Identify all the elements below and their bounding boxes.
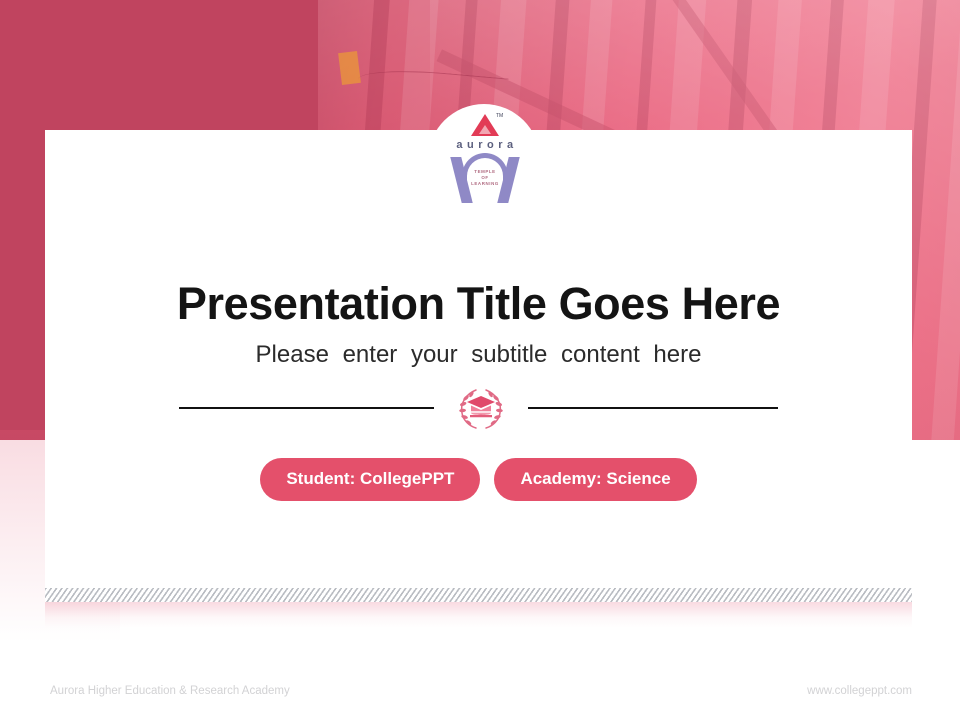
logo-triangle-group: TM	[440, 112, 530, 138]
footer-organization: Aurora Higher Education & Research Acade…	[50, 685, 290, 697]
triangle-inner-icon	[479, 125, 491, 134]
divider	[45, 384, 912, 432]
page-title[interactable]: Presentation Title Goes Here	[45, 276, 912, 332]
hatch-shadow	[45, 602, 912, 628]
arch-icon: TEMPLE OF LEARNING	[440, 153, 530, 203]
page-subtitle[interactable]: Please enter your subtitle content here	[45, 339, 912, 371]
divider-line-left	[179, 407, 434, 409]
academy-pill[interactable]: Academy: Science	[494, 458, 696, 501]
meta-pills: Student: CollegePPT Academy: Science	[45, 458, 912, 501]
aurora-logo: TM aurora TEMPLE OF LEARNING	[440, 112, 530, 200]
footer-website[interactable]: www.collegeppt.com	[807, 685, 912, 697]
logo-tagline-line3: LEARNING	[440, 181, 530, 187]
student-pill[interactable]: Student: CollegePPT	[260, 458, 480, 501]
graduation-wreath-icon	[455, 384, 507, 432]
logo-tagline: TEMPLE OF LEARNING	[440, 169, 530, 187]
hatch-strip	[45, 588, 912, 602]
logo-trademark: TM	[496, 113, 503, 119]
graduation-cap-shape	[467, 396, 495, 417]
logo-wordmark: aurora	[440, 139, 530, 151]
presentation-slide: TM aurora TEMPLE OF LEARNING Presentatio…	[0, 0, 960, 720]
divider-line-right	[528, 407, 778, 409]
